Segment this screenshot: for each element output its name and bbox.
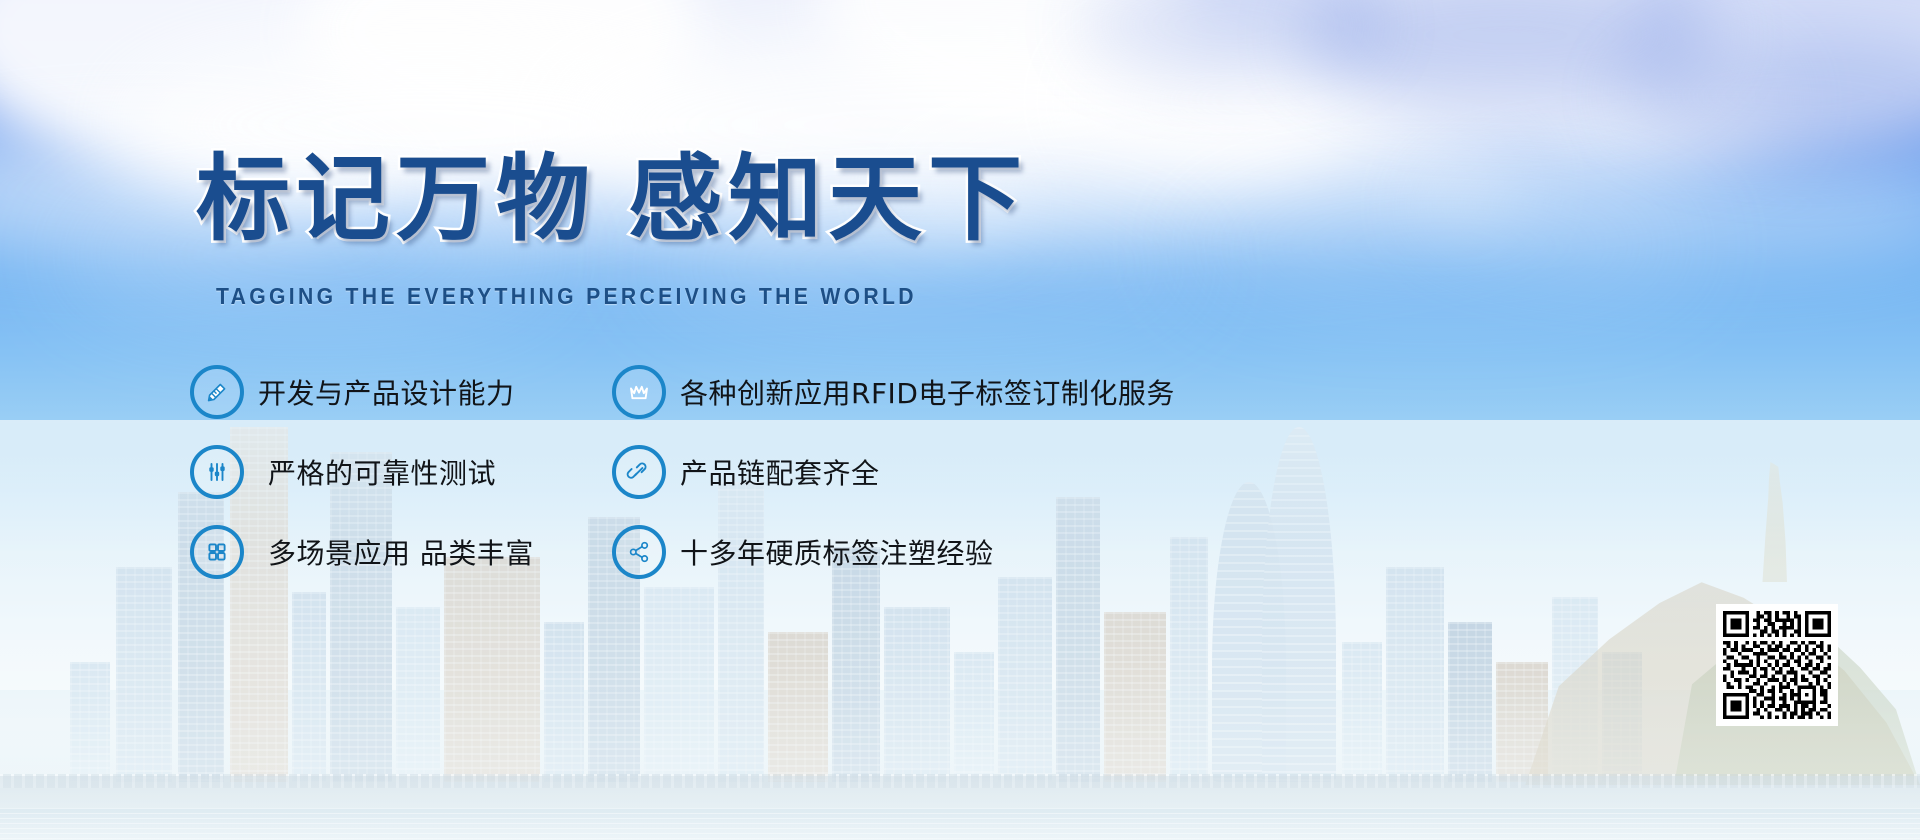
banner-content: 标记万物 感知天下 TAGGING THE EVERYTHING PERCEIV… [0,0,1920,840]
feature-item: 开发与产品设计能力 [190,352,590,432]
feature-item: 产品链配套齐全 [612,432,1175,512]
crown-icon [612,365,666,419]
promo-banner: 标记万物 感知天下 TAGGING THE EVERYTHING PERCEIV… [0,0,1920,840]
feature-label: 各种创新应用RFID电子标签订制化服务 [680,372,1175,412]
feature-item: 多场景应用 品类丰富 [190,512,590,592]
feature-label: 开发与产品设计能力 [258,372,515,412]
feature-label: 多场景应用 品类丰富 [258,532,534,572]
feature-item: 严格的可靠性测试 [190,432,590,512]
feature-item: 各种创新应用RFID电子标签订制化服务 [612,352,1175,432]
qr-code[interactable] [1716,604,1838,726]
feature-item: 十多年硬质标签注塑经验 [612,512,1175,592]
qr-code-image [1723,611,1831,719]
grid-squares-icon [190,525,244,579]
feature-label: 严格的可靠性测试 [258,452,496,492]
share-nodes-icon [612,525,666,579]
headline: 标记万物 感知天下 [196,150,1028,249]
feature-list: 开发与产品设计能力 各种创新应用RFID电子标签订制化服务 [190,352,1175,592]
feature-label: 产品链配套齐全 [680,452,880,492]
ruler-pencil-icon [190,365,244,419]
link-chain-icon [612,445,666,499]
feature-label: 十多年硬质标签注塑经验 [680,532,994,572]
sliders-icon [190,445,244,499]
subheadline: TAGGING THE EVERYTHING PERCEIVING THE WO… [216,283,917,310]
